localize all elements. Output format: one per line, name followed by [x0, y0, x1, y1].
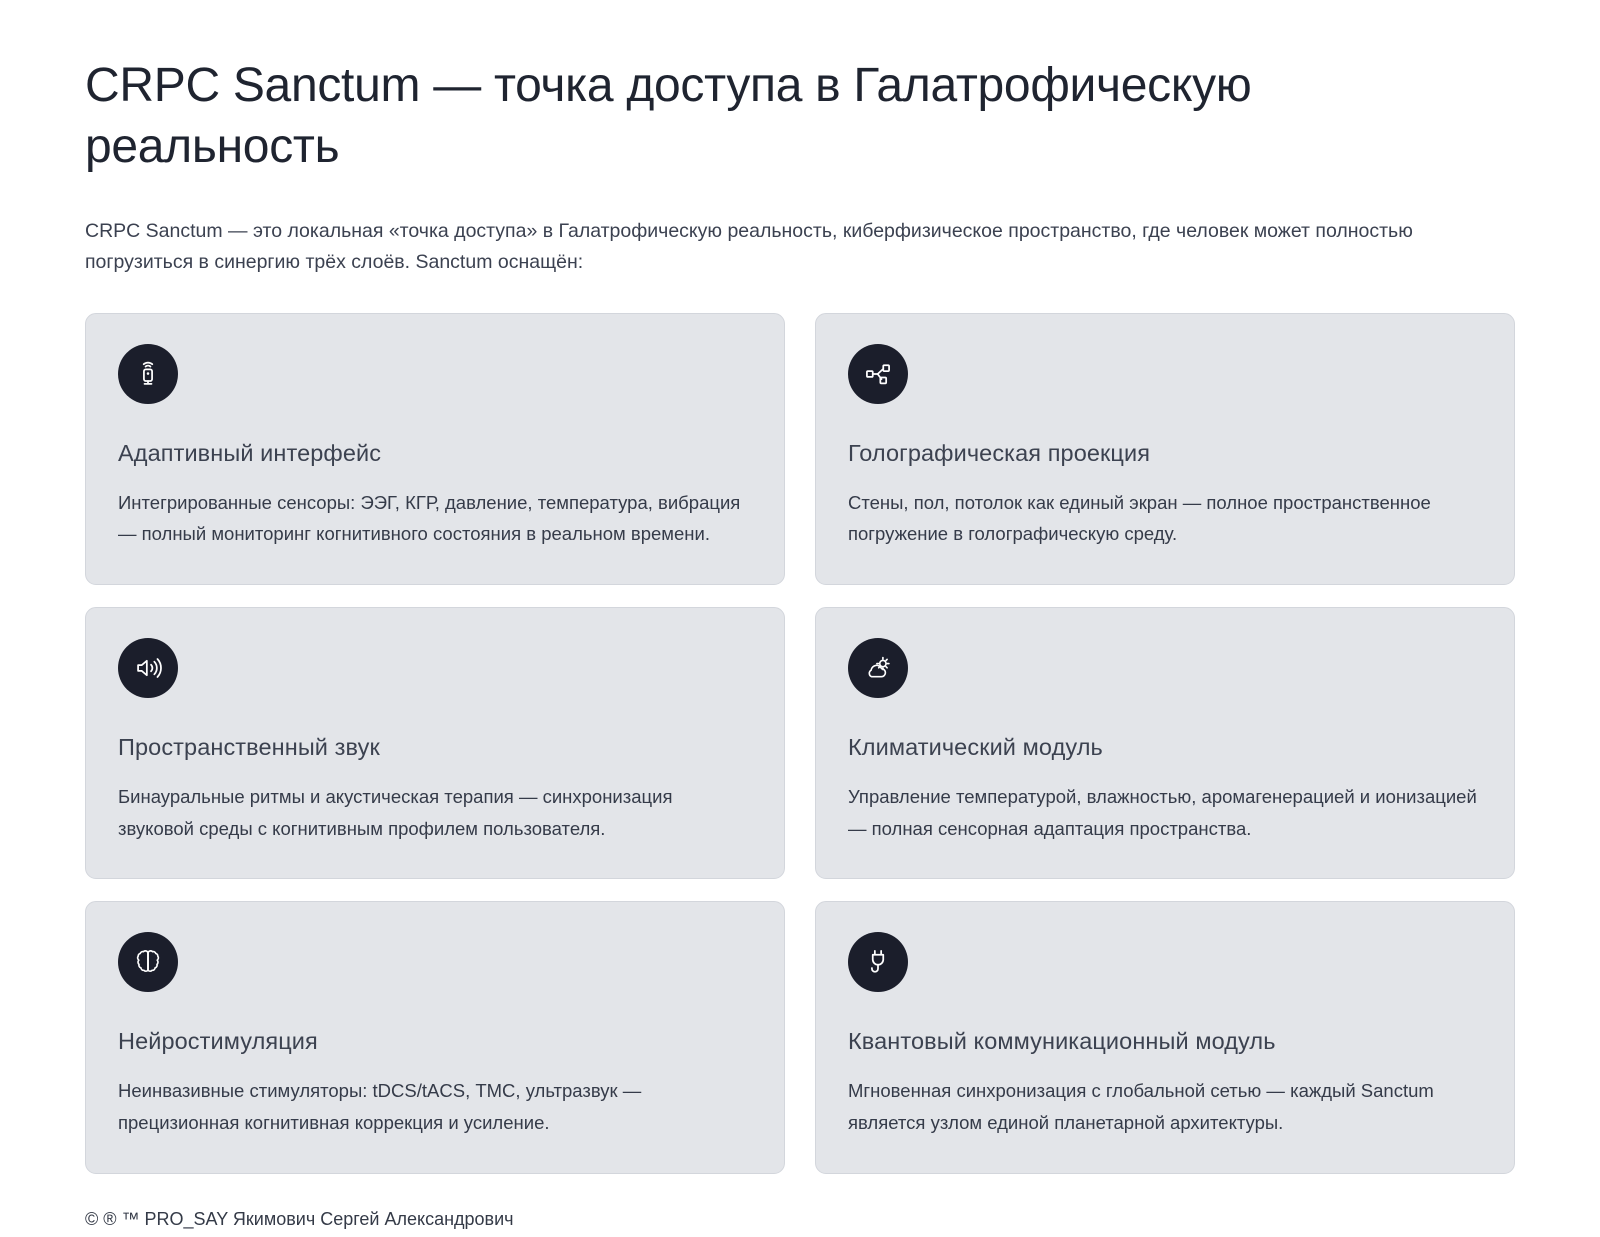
card-description: Мгновенная синхронизация с глобальной се… [848, 1075, 1482, 1139]
card-title: Климатический модуль [848, 732, 1482, 763]
card-title: Голографическая проекция [848, 438, 1482, 469]
card-title: Квантовый коммуникационный модуль [848, 1026, 1482, 1057]
feature-card-climate-module[interactable]: Климатический модуль Управление температ… [815, 607, 1515, 879]
footer-copyright: © ® ™ PRO_SAY Якимович Сергей Александро… [85, 1206, 1515, 1233]
feature-card-spatial-sound[interactable]: Пространственный звук Бинауральные ритмы… [85, 607, 785, 879]
feature-card-neurostimulation[interactable]: Нейростимуляция Неинвазивные стимуляторы… [85, 901, 785, 1173]
network-nodes-icon [848, 344, 908, 404]
feature-card-quantum-communication[interactable]: Квантовый коммуникационный модуль Мгнове… [815, 901, 1515, 1173]
card-title: Адаптивный интерфейс [118, 438, 752, 469]
card-description: Стены, пол, потолок как единый экран — п… [848, 487, 1482, 551]
card-description: Управление температурой, влажностью, аро… [848, 781, 1482, 845]
card-description: Интегрированные сенсоры: ЭЭГ, КГР, давле… [118, 487, 752, 551]
feature-card-grid: Адаптивный интерфейс Интегрированные сен… [85, 313, 1515, 1174]
cloud-sun-weather-icon [848, 638, 908, 698]
brain-icon [118, 932, 178, 992]
feature-card-adaptive-interface[interactable]: Адаптивный интерфейс Интегрированные сен… [85, 313, 785, 585]
feature-card-holographic-projection[interactable]: Голографическая проекция Стены, пол, пот… [815, 313, 1515, 585]
card-title: Пространственный звук [118, 732, 752, 763]
card-description: Неинвазивные стимуляторы: tDCS/tACS, ТМС… [118, 1075, 752, 1139]
card-description: Бинауральные ритмы и акустическая терапи… [118, 781, 752, 845]
speaker-volume-icon [118, 638, 178, 698]
smart-sensor-device-icon [118, 344, 178, 404]
power-plug-icon [848, 932, 908, 992]
page-title: CRPC Sanctum — точка доступа в Галатрофи… [85, 55, 1445, 178]
intro-paragraph: CRPC Sanctum — это локальная «точка дост… [85, 216, 1415, 279]
card-title: Нейростимуляция [118, 1026, 752, 1057]
page-root: CRPC Sanctum — точка доступа в Галатрофи… [0, 0, 1600, 1237]
